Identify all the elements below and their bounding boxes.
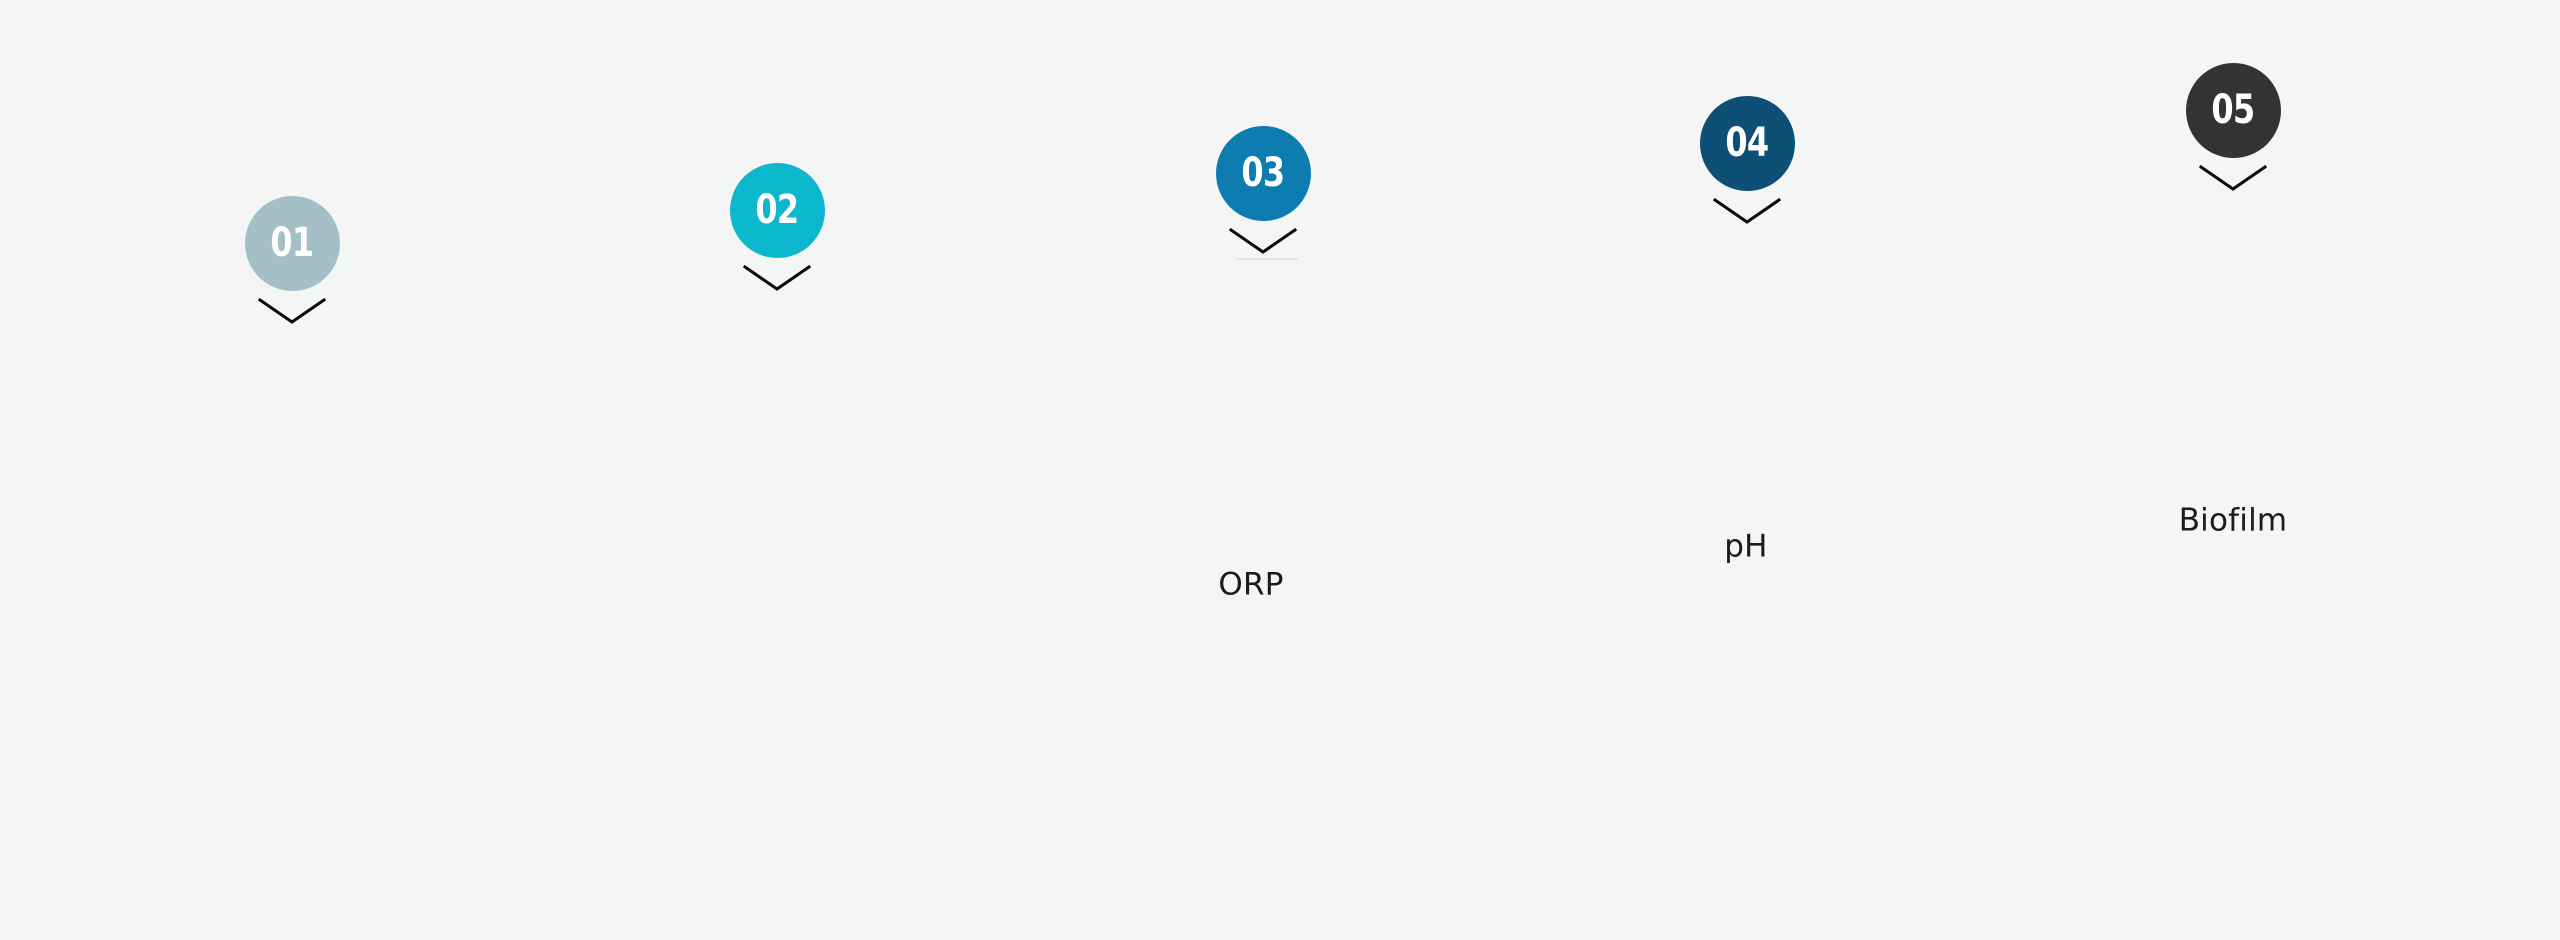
marker-number-label: 05: [2212, 90, 2255, 130]
marker-badge-circle-04[interactable]: 04: [1700, 96, 1795, 191]
marker-caption-05: Biofilm: [2179, 506, 2288, 537]
chevron-down-icon: [1229, 227, 1297, 255]
marker-number-label: 01: [271, 223, 314, 263]
marker-number-label: 03: [1242, 153, 1285, 193]
chevron-down-icon: [2199, 164, 2267, 192]
diagram-canvas: 0102030405 ORPpHBiofilm: [0, 0, 2560, 940]
marker-badge-circle-02[interactable]: 02: [730, 163, 825, 258]
marker-badge-circle-03[interactable]: 03: [1216, 126, 1311, 221]
chevron-down-icon: [258, 297, 326, 325]
chevron-down-icon: [1713, 197, 1781, 225]
marker-caption-03: ORP: [1218, 570, 1283, 601]
marker-caption-04: pH: [1724, 532, 1767, 563]
marker-badge-circle-01[interactable]: 01: [245, 196, 340, 291]
marker-number-label: 04: [1726, 123, 1769, 163]
chevron-down-icon: [743, 264, 811, 292]
residual-artifact-line: [1236, 258, 1298, 260]
marker-number-label: 02: [756, 190, 799, 230]
marker-badge-circle-05[interactable]: 05: [2186, 63, 2281, 158]
